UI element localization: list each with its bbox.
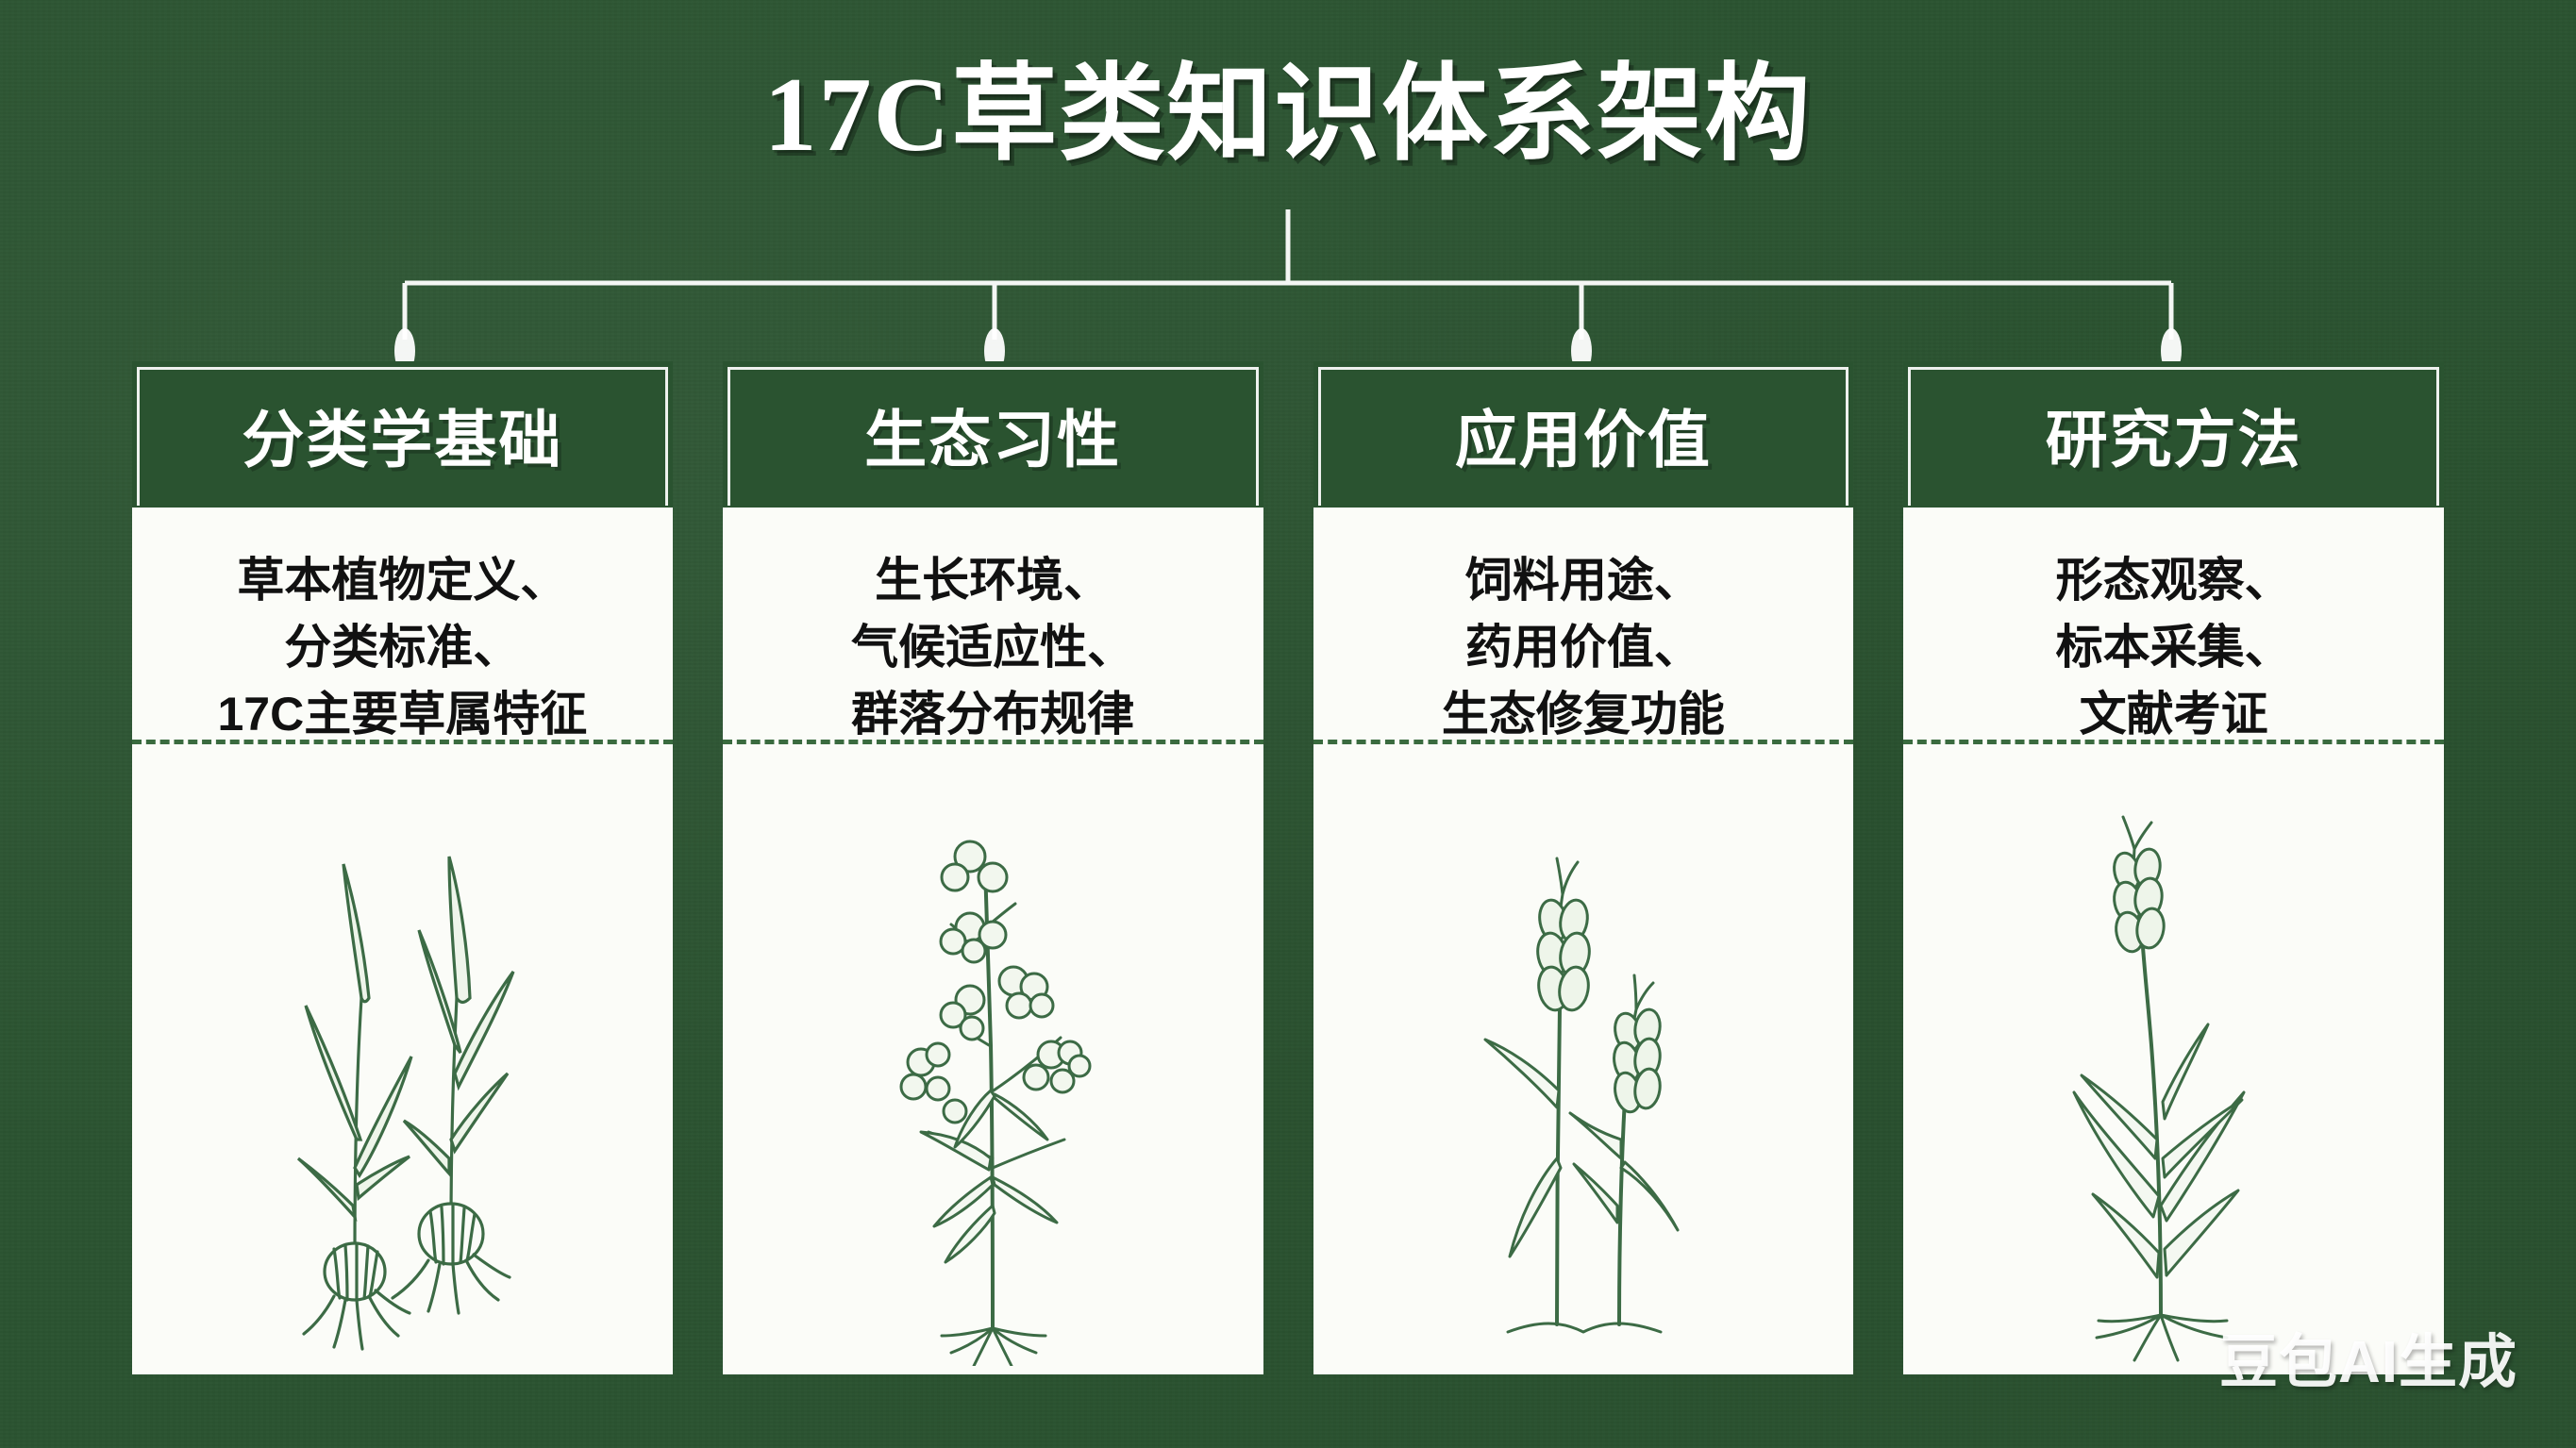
card-title: 生态习性: [864, 390, 1121, 480]
card-body-ecology: 生长环境、 气候适应性、 群落分布规律: [723, 508, 1263, 1374]
card-header-ecology: 生态习性: [723, 361, 1263, 508]
card-header-taxonomy: 分类学基础: [132, 361, 673, 508]
card-text-taxonomy: 草本植物定义、 分类标准、 17C主要草属特征: [132, 508, 673, 748]
card-text-ecology: 生长环境、 气候适应性、 群落分布规律: [723, 508, 1263, 748]
card-application[interactable]: 应用价值 饲料用途、 药用价值、 生态修复功能: [1313, 361, 1854, 1374]
card-text-line: 分类标准、: [149, 614, 656, 681]
card-text-line: 群落分布规律: [740, 681, 1246, 748]
card-text-line: 草本植物定义、: [149, 547, 656, 614]
card-header-application: 应用价值: [1313, 361, 1854, 508]
card-text-line: 文献考证: [1920, 681, 2427, 748]
card-header-methods: 研究方法: [1903, 361, 2444, 508]
card-divider: [132, 740, 673, 744]
card-text-line: 生态修复功能: [1330, 681, 1837, 748]
card-body-methods: 形态观察、 标本采集、 文献考证: [1903, 508, 2444, 1374]
card-divider: [1313, 740, 1854, 744]
single-wheat-tuft-icon: [1903, 753, 2444, 1374]
card-body-application: 饲料用途、 药用价值、 生态修复功能: [1313, 508, 1854, 1374]
card-text-line: 气候适应性、: [740, 614, 1246, 681]
watermark-label: 豆包AI生成: [2219, 1314, 2517, 1399]
flowering-herb-icon: [723, 753, 1263, 1374]
card-text-line: 17C主要草属特征: [149, 681, 656, 748]
card-divider: [1903, 740, 2444, 744]
card-title: 研究方法: [2046, 390, 2302, 480]
card-ecology[interactable]: 生态习性 生长环境、 气候适应性、 群落分布规律: [723, 361, 1263, 1374]
card-text-line: 生长环境、: [740, 547, 1246, 614]
bulbous-grass-clump-icon: [132, 753, 673, 1374]
card-text-methods: 形态观察、 标本采集、 文献考证: [1903, 508, 2444, 748]
card-text-line: 形态观察、: [1920, 547, 2427, 614]
card-row: 分类学基础 草本植物定义、 分类标准、 17C主要草属特征: [132, 361, 2444, 1374]
card-text-line: 标本采集、: [1920, 614, 2427, 681]
card-text-application: 饲料用途、 药用价值、 生态修复功能: [1313, 508, 1854, 748]
card-methods[interactable]: 研究方法 形态观察、 标本采集、 文献考证: [1903, 361, 2444, 1374]
card-divider: [723, 740, 1263, 744]
card-taxonomy[interactable]: 分类学基础 草本植物定义、 分类标准、 17C主要草属特征: [132, 361, 673, 1374]
card-title: 应用价值: [1455, 390, 1712, 480]
card-title: 分类学基础: [242, 390, 562, 480]
wheat-pair-icon: [1313, 753, 1854, 1374]
card-text-line: 饲料用途、: [1330, 547, 1837, 614]
connector-tree: [0, 0, 2576, 396]
card-body-taxonomy: 草本植物定义、 分类标准、 17C主要草属特征: [132, 508, 673, 1374]
card-text-line: 药用价值、: [1330, 614, 1837, 681]
